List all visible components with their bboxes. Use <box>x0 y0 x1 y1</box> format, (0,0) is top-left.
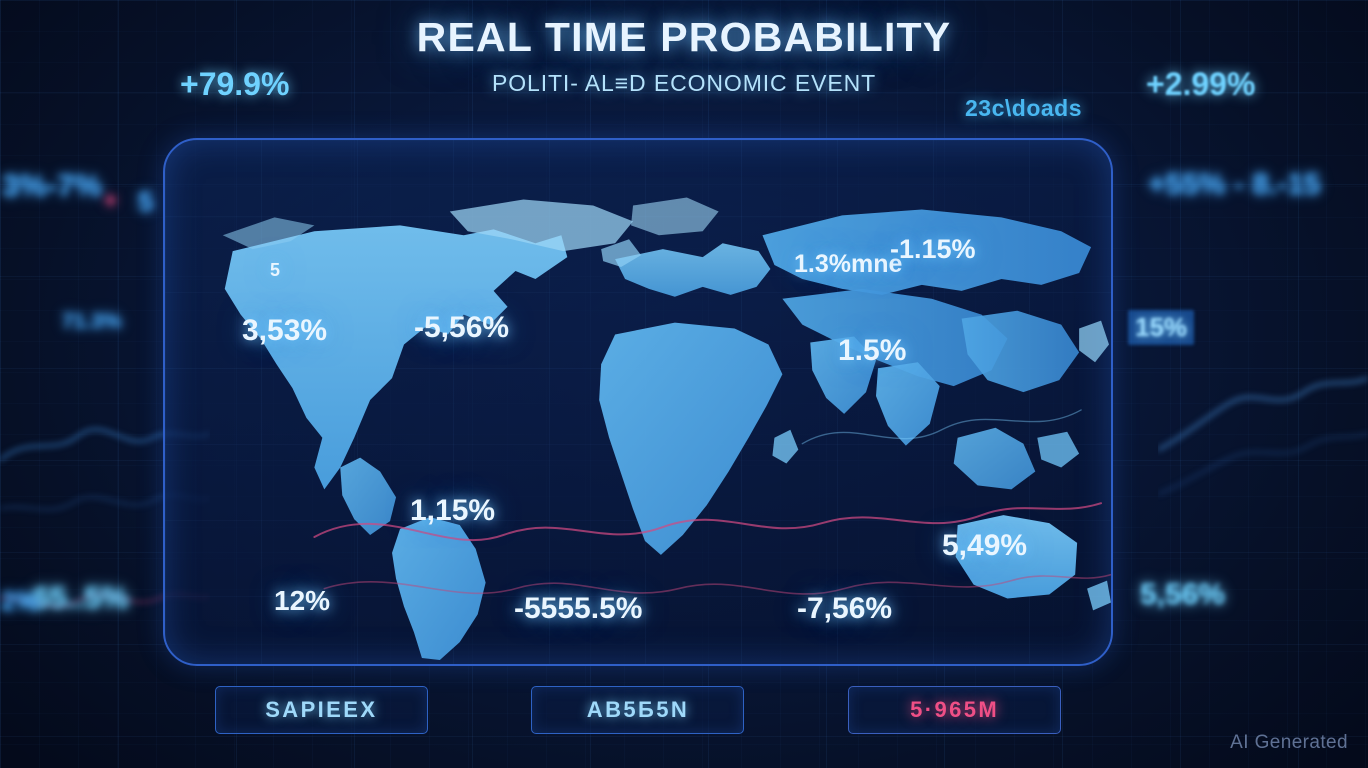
map-label-china: 1.5% <box>838 334 906 368</box>
map-label-australia: 5,49% <box>942 529 1027 563</box>
right-chart-panel <box>1158 0 1368 768</box>
map-label-africa-south: -5555.5% <box>514 592 642 626</box>
edge-readout-left-pct: 71.3% <box>62 310 122 334</box>
ai-generated-watermark: AI Generated <box>1230 732 1348 754</box>
map-label-north-america-small: 5 <box>270 260 280 281</box>
dashboard-backdrop: REAL TIME PROBABILITY POLITI- AL≡D ECONO… <box>0 0 1368 768</box>
edge-readout-right-range: +55% - 8.-15 <box>1148 168 1321 202</box>
map-label-indian-ocean: -7,56% <box>797 592 892 626</box>
landmass-southeast-asia <box>954 428 1036 490</box>
landmass-scandinavia <box>631 198 719 236</box>
landmass-china <box>962 311 1080 392</box>
right-line-chart <box>1158 0 1368 768</box>
chip-ab5bn[interactable]: AB5Б5N <box>531 686 744 734</box>
landmass-europe <box>615 243 770 297</box>
page-subtitle: POLITI- AL≡D ECONOMIC EVENT <box>0 70 1368 97</box>
highlight-badge-right-highlight: 15% <box>1128 310 1194 345</box>
map-label-north-america-right: -5,56% <box>414 311 509 345</box>
edge-readout-left-five: 5 <box>138 186 154 218</box>
landmass-new-zealand <box>1087 581 1111 611</box>
map-label-russia-right: -1.15% <box>890 234 976 265</box>
chip-5965m[interactable]: 5·965M <box>848 686 1061 734</box>
top-note-label: 23c\doads <box>965 95 1082 122</box>
map-label-russia-left: 1.3%mne <box>794 250 902 279</box>
world-map-card[interactable]: 3,53%-5,56%51.3%mne-1.15%1.5%1,15%5,49%1… <box>163 138 1113 666</box>
map-label-south-america: 1,15% <box>410 494 495 528</box>
header: REAL TIME PROBABILITY POLITI- AL≡D ECONO… <box>0 14 1368 97</box>
page-title: REAL TIME PROBABILITY <box>0 14 1368 61</box>
landmass-madagascar <box>772 430 798 464</box>
map-label-south-atlantic: 12% <box>274 585 330 617</box>
edge-readout-right-change: 5,56% <box>1140 578 1225 612</box>
landmass-philippines <box>1037 432 1079 468</box>
landmass-south-america <box>392 517 486 660</box>
edge-readout-left-drop-2: 2% <box>1 586 39 617</box>
edge-readout-left-range: 3%-7% <box>2 168 102 204</box>
landmass-japan <box>1079 321 1109 363</box>
edge-readout-left-plus: + <box>104 188 117 214</box>
chip-sapieex[interactable]: SAPIEEX <box>215 686 428 734</box>
status-chip-row: SAPIEEXAB5Б5N5·965M <box>163 684 1113 736</box>
map-label-north-america-left: 3,53% <box>242 314 327 348</box>
